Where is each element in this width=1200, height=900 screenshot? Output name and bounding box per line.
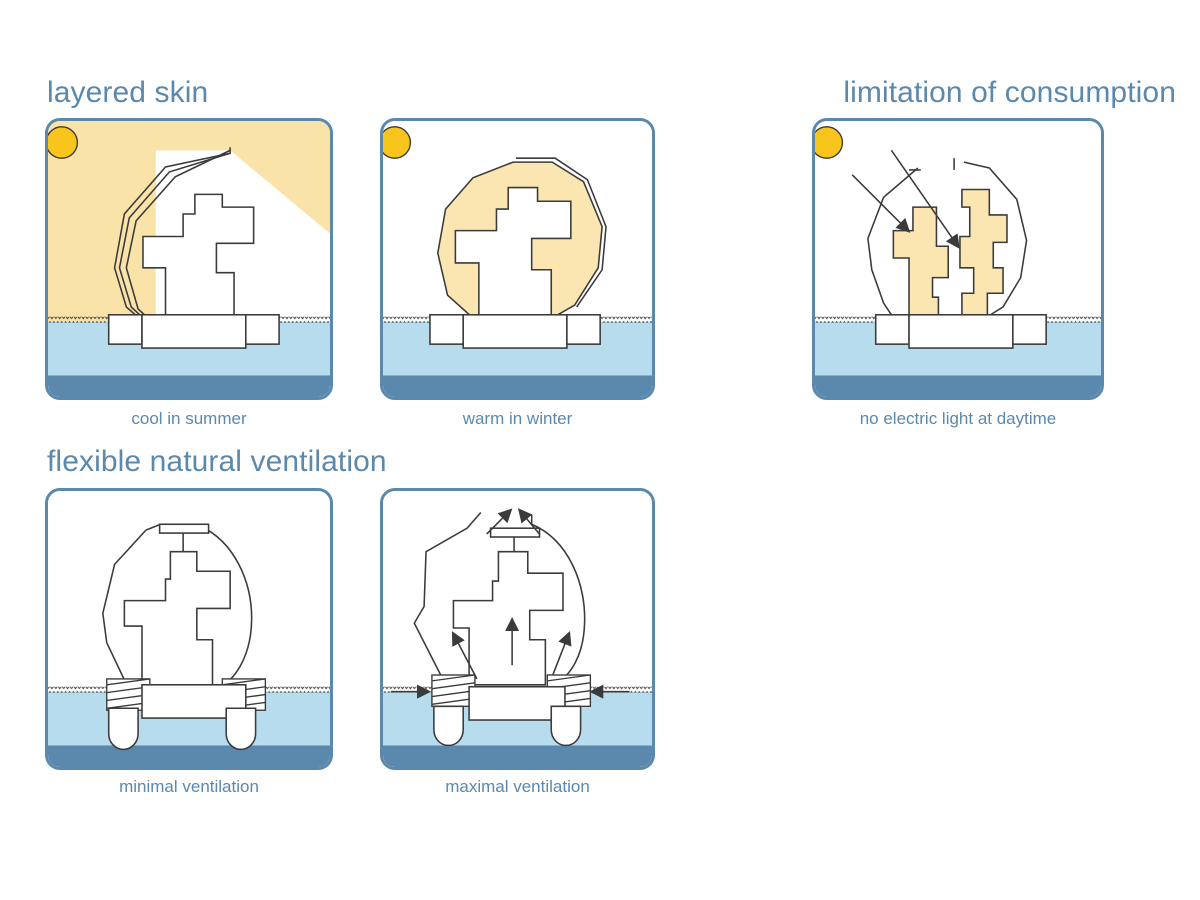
- section-title-layered-skin: layered skin: [47, 78, 208, 108]
- pontoon-left: [876, 315, 909, 344]
- sky-white: [815, 121, 1101, 322]
- caption-minimal-ventilation: minimal ventilation: [45, 778, 333, 795]
- submerged-pod-left: [434, 706, 463, 745]
- caption-cool-in-summer: cool in summer: [45, 410, 333, 427]
- pontoon-right: [1013, 315, 1046, 344]
- pontoon-left: [430, 315, 463, 344]
- panel-cool-in-summer[interactable]: [45, 118, 333, 400]
- pontoon-right: [246, 315, 279, 344]
- caption-warm-in-winter: warm in winter: [380, 410, 655, 427]
- diagram-canvas: layered skin limitation of consumption f…: [0, 0, 1200, 900]
- water-deep: [383, 745, 652, 767]
- section-title-flexible-natural-ventilation: flexible natural ventilation: [47, 447, 387, 477]
- water-deep: [383, 375, 652, 397]
- submerged-pod-right: [226, 708, 255, 749]
- caption-no-electric-light-at-daytime: no electric light at daytime: [812, 410, 1104, 427]
- chimney-cap: [160, 524, 209, 533]
- panel-warm-in-winter[interactable]: [380, 118, 655, 400]
- section-title-limitation-of-consumption: limitation of consumption: [843, 78, 1176, 108]
- caption-maximal-ventilation: maximal ventilation: [380, 778, 655, 795]
- submerged-pod-right: [551, 706, 580, 745]
- pontoon-left: [109, 315, 142, 344]
- water-deep: [48, 375, 330, 397]
- chimney-cap: [491, 528, 540, 537]
- panel-minimal-ventilation[interactable]: [45, 488, 333, 770]
- water-deep: [815, 375, 1101, 397]
- sun-icon: [383, 127, 410, 158]
- sun-icon: [815, 127, 842, 158]
- pontoon-center: [463, 315, 567, 348]
- submerged-pod-left: [109, 708, 138, 749]
- pontoon-center: [142, 315, 246, 348]
- panel-no-electric-light-at-daytime[interactable]: [812, 118, 1104, 400]
- pontoon-right: [567, 315, 600, 344]
- water-deep: [48, 745, 330, 767]
- pontoon-center: [909, 315, 1013, 348]
- panel-maximal-ventilation[interactable]: [380, 488, 655, 770]
- sun-icon: [48, 127, 77, 158]
